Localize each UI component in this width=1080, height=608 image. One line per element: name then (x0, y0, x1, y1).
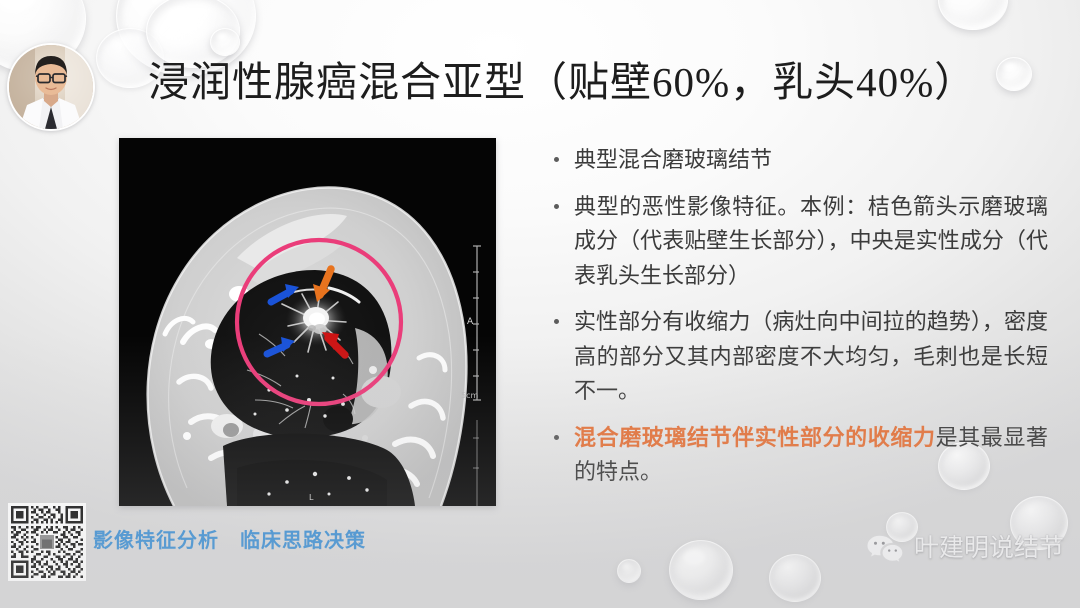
droplet-specular (217, 33, 227, 40)
wechat-account-name: 叶建明说结节 (914, 533, 1064, 565)
bullet-dot-icon (554, 435, 559, 440)
droplet-specular (167, 7, 198, 26)
wechat-brand: 叶建明说结节 (866, 533, 1064, 565)
avatar (7, 43, 95, 131)
bullet-dot-icon (554, 157, 559, 162)
droplet-decoration (769, 554, 821, 602)
bullet-list: 典型混合磨玻璃结节 典型的恶性影像特征。本例：桔色箭头示磨玻璃成分（代表贴壁生长… (548, 143, 1048, 502)
bullet-text: 典型的恶性影像特征。本例：桔色箭头示磨玻璃成分（代表贴壁生长部分），中央是实性成… (574, 194, 1048, 288)
wechat-icon-glyph (866, 533, 906, 565)
qr-code-graphic (11, 506, 83, 578)
droplet-decoration (617, 559, 641, 583)
wechat-icon (866, 533, 906, 565)
slide-canvas: 浸润性腺癌混合亚型（贴壁60%，乳头40%） (0, 0, 1080, 608)
list-item-highlighted: 混合磨玻璃结节伴实性部分的收缩力是其最显著的特点。 (548, 421, 1048, 490)
droplet-specular (0, 0, 36, 11)
footer-tagline: 影像特征分析 临床思路决策 (93, 528, 366, 554)
bullet-highlight-text: 混合磨玻璃结节伴实性部分的收缩力 (574, 425, 936, 450)
chest-ct-image: A 5cm L (119, 138, 496, 506)
ct-scale-label: 5cm (461, 391, 478, 400)
ct-orientation-left: L (309, 493, 314, 502)
bullet-dot-icon (554, 204, 559, 209)
avatar-photo (9, 45, 93, 129)
droplet-decoration (669, 540, 733, 600)
ct-orientation-anterior: A (467, 317, 474, 327)
bullet-text: 典型混合磨玻璃结节 (574, 147, 772, 172)
list-item: 实性部分有收缩力（病灶向中间拉的趋势），密度高的部分又其内部密度不大均匀，毛刺也… (548, 305, 1048, 409)
droplet-specular (684, 550, 705, 565)
bullet-dot-icon (554, 319, 559, 324)
page-title: 浸润性腺癌混合亚型（贴壁60%，乳头40%） (148, 57, 1028, 107)
list-item: 典型的恶性影像特征。本例：桔色箭头示磨玻璃成分（代表贴壁生长部分），中央是实性成… (548, 190, 1048, 294)
droplet-decoration (210, 28, 240, 56)
bullet-text: 实性部分有收缩力（病灶向中间拉的趋势），密度高的部分又其内部密度不大均匀，毛刺也… (574, 309, 1048, 403)
ct-scan-graphic: A 5cm L (119, 138, 496, 506)
list-item: 典型混合磨玻璃结节 (548, 143, 1048, 178)
wechat-qr-code[interactable] (8, 503, 86, 581)
droplet-specular (623, 564, 630, 570)
droplet-decoration (938, 0, 1008, 30)
